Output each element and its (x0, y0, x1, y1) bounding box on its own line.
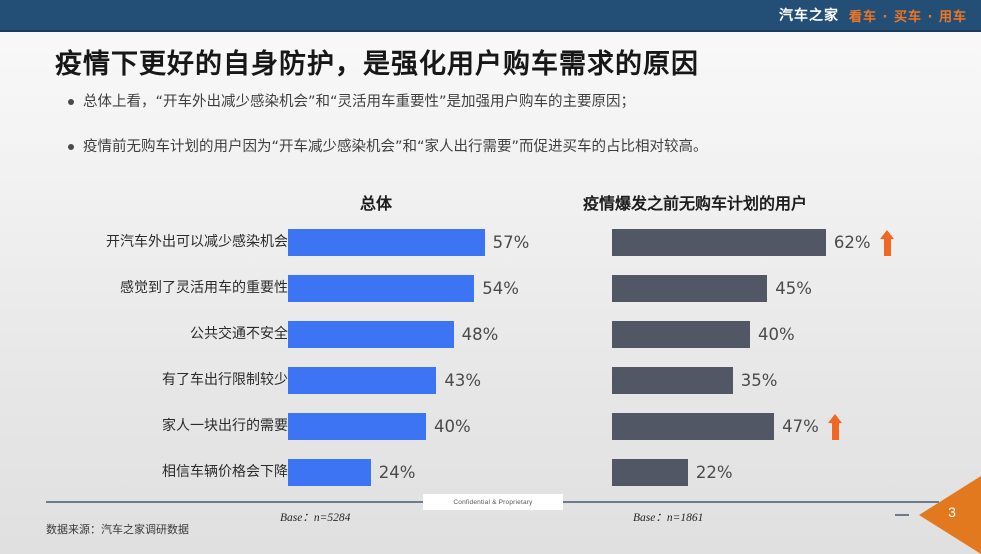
bar-overall (288, 459, 371, 486)
bar-group-noplan: 35% (612, 367, 777, 394)
category-label: 公共交通不安全 (58, 323, 288, 343)
bar-value-noplan: 35% (741, 371, 778, 390)
up-arrow-icon (828, 414, 843, 440)
brand-name: 汽车之家 (779, 5, 839, 25)
bar-group-noplan: 47% (612, 413, 843, 440)
bar-group-overall: 48% (288, 321, 498, 348)
chart-row: 家人一块出行的需要 40% 47% (0, 410, 981, 456)
bar-value-overall: 43% (444, 371, 481, 390)
bar-value-overall: 54% (482, 279, 519, 298)
chart-row: 有了车出行限制较少 43% 35% (0, 364, 981, 410)
bar-overall (288, 321, 454, 348)
chart-row: 感觉到了灵活用车的重要性 54% 45% (0, 272, 981, 318)
bar-value-noplan: 47% (782, 417, 819, 436)
bar-overall (288, 367, 436, 394)
confidential-label: Confidential & Proprietary (423, 494, 563, 510)
bullet-text: 总体上看，“开车外出减少感染机会”和“灵活用车重要性”是加强用户购车的主要原因； (83, 92, 635, 114)
bar-overall (288, 413, 426, 440)
chart-row: 开汽车外出可以减少感染机会 57% 62% (0, 226, 981, 272)
base-note-right: Base：n=1861 (633, 509, 703, 525)
bar-group-noplan: 40% (612, 321, 795, 348)
column-heading-overall: 总体 (360, 190, 392, 214)
bullet-list: 总体上看，“开车外出减少感染机会”和“灵活用车重要性”是加强用户购车的主要原因；… (68, 92, 958, 182)
chart-row: 公共交通不安全 48% 40% (0, 318, 981, 364)
bar-noplan (612, 229, 826, 256)
page-title: 疫情下更好的自身防护，是强化用户购车需求的原因 (55, 42, 699, 81)
data-source-note: 数据来源：汽车之家调研数据 (46, 521, 189, 537)
bar-group-noplan: 22% (612, 459, 733, 486)
bar-group-noplan: 45% (612, 275, 812, 302)
bar-group-overall: 43% (288, 367, 481, 394)
category-label: 开汽车外出可以减少感染机会 (58, 231, 288, 251)
list-item: 疫情前无购车计划的用户因为“开车减少感染机会”和“家人出行需要”而促进买车的占比… (68, 137, 958, 159)
list-item: 总体上看，“开车外出减少感染机会”和“灵活用车重要性”是加强用户购车的主要原因； (68, 92, 958, 114)
bar-value-overall: 24% (379, 463, 416, 482)
bar-noplan (612, 321, 750, 348)
bar-group-overall: 40% (288, 413, 471, 440)
bar-noplan (612, 275, 767, 302)
bar-value-noplan: 62% (834, 233, 871, 252)
bar-value-overall: 40% (434, 417, 471, 436)
bar-group-overall: 57% (288, 229, 529, 256)
page-number-badge: 3 (905, 476, 981, 554)
bar-group-overall: 24% (288, 459, 415, 486)
bar-noplan (612, 367, 733, 394)
bar-overall (288, 229, 485, 256)
bar-group-noplan: 62% (612, 229, 895, 256)
bar-value-noplan: 22% (696, 463, 733, 482)
bullet-text: 疫情前无购车计划的用户因为“开车减少感染机会”和“家人出行需要”而促进买车的占比… (83, 137, 708, 159)
bar-group-overall: 54% (288, 275, 519, 302)
bullet-dot-icon (68, 99, 74, 105)
slide-root: { "header": { "brand_main": "汽车之家", "bra… (0, 0, 981, 554)
bar-noplan (612, 413, 774, 440)
confidential-text: Confidential & Proprietary (453, 499, 532, 506)
bar-overall (288, 275, 474, 302)
brand-logo: 汽车之家 看车 · 买车 · 用车 (779, 0, 967, 30)
badge-connector-line (895, 514, 909, 516)
bar-value-overall: 48% (462, 325, 499, 344)
bar-value-noplan: 45% (775, 279, 812, 298)
up-arrow-icon (880, 230, 895, 256)
bar-noplan (612, 459, 688, 486)
category-label: 有了车出行限制较少 (58, 369, 288, 389)
category-label: 相信车辆价格会下降 (58, 461, 288, 481)
page-number: 3 (937, 504, 967, 520)
bullet-dot-icon (68, 144, 74, 150)
bar-value-overall: 57% (493, 233, 530, 252)
bar-value-noplan: 40% (758, 325, 795, 344)
column-heading-no-plan: 疫情爆发之前无购车计划的用户 (583, 190, 807, 214)
category-label: 感觉到了灵活用车的重要性 (58, 277, 288, 297)
brand-tagline: 看车 · 买车 · 用车 (849, 6, 967, 25)
category-label: 家人一块出行的需要 (58, 415, 288, 435)
bar-chart: 开汽车外出可以减少感染机会 57% 62% 感觉到了灵活用车的重要性 54% 4… (0, 226, 981, 502)
base-note-left: Base：n=5284 (280, 509, 350, 525)
top-header-bar: 汽车之家 看车 · 买车 · 用车 (0, 0, 981, 32)
